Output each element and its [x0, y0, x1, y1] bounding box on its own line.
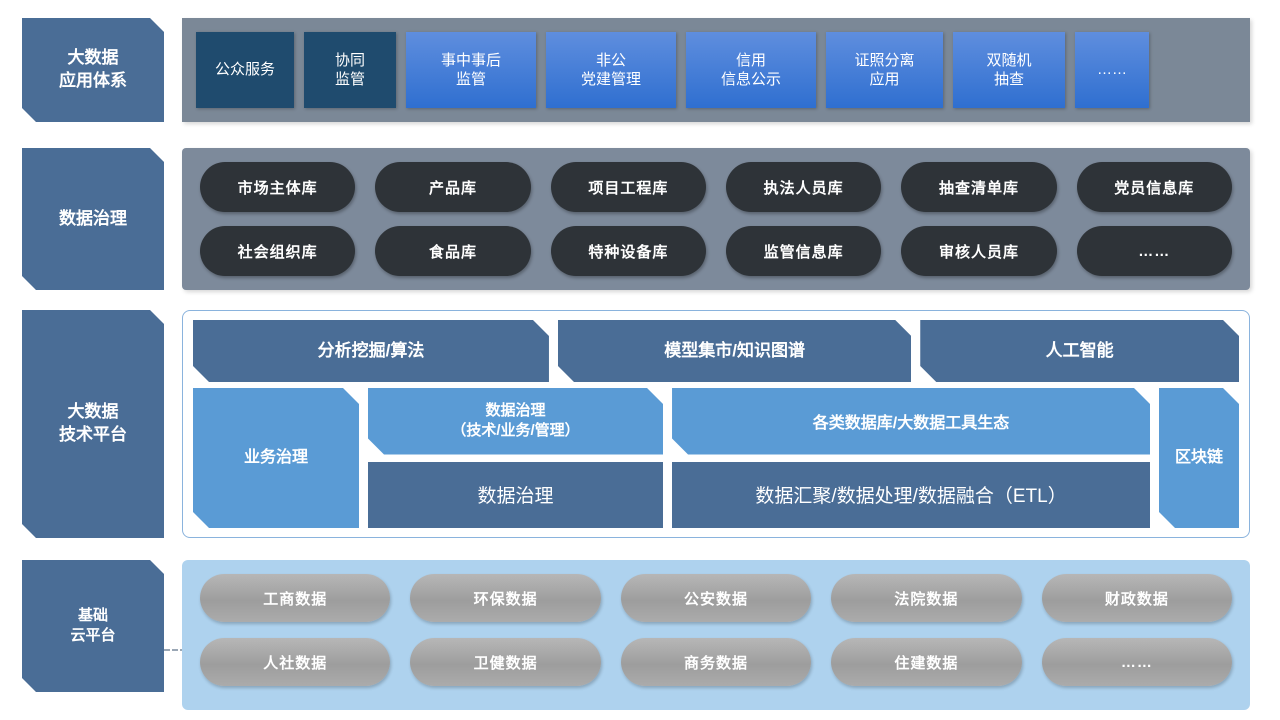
db-pill-reviewer-label: 审核人员库	[939, 241, 1019, 262]
layer-data-governance: 数据治理 市场主体库 产品库 项目工程库 执法人员库 抽查清单库 党员信息库 社…	[0, 140, 1280, 298]
db-pill-row-1: 市场主体库 产品库 项目工程库 执法人员库 抽查清单库 党员信息库	[200, 162, 1232, 212]
app-box-during-after-supervision-line1: 事中事后	[441, 51, 501, 71]
app-box-more-label: ……	[1097, 60, 1127, 80]
app-box-double-random-inspection-line2: 抽查	[986, 70, 1031, 90]
app-box-during-after-supervision[interactable]: 事中事后 监管	[406, 32, 536, 108]
db-pill-project-label: 项目工程库	[588, 177, 668, 198]
db-pill-enforcement[interactable]: 执法人员库	[726, 162, 881, 212]
db-pill-enforcement-label: 执法人员库	[764, 177, 844, 198]
layer-label-cloud-platform-line1: 基础	[70, 606, 115, 626]
app-box-collaborative-supervision[interactable]: 协同 监管	[304, 32, 396, 108]
tech-platform-container: 分析挖掘/算法 模型集市/知识图谱 人工智能 业务治理 数据治理 （技术/业务/…	[182, 310, 1250, 538]
layer-label-application-line1: 大数据	[59, 47, 127, 70]
app-box-party-building[interactable]: 非公 党建管理	[546, 32, 676, 108]
source-pill-business-label: 商务数据	[684, 652, 748, 673]
db-pill-more-label: ……	[1138, 243, 1170, 260]
source-pill-health[interactable]: 卫健数据	[410, 638, 600, 686]
layer-application-system: 大数据 应用体系 公众服务 协同 监管 事中事后 监管 非公 党建管理	[0, 0, 1280, 140]
tech-box-business-governance[interactable]: 业务治理	[193, 388, 359, 528]
source-pill-health-label: 卫健数据	[474, 652, 538, 673]
db-pill-product-label: 产品库	[429, 177, 477, 198]
source-pill-public-security[interactable]: 公安数据	[621, 574, 811, 622]
layer-label-tech-platform-line1: 大数据	[59, 401, 127, 424]
layer-label-tech-platform-line2: 技术平台	[59, 424, 127, 447]
source-pill-human-resources[interactable]: 人社数据	[200, 638, 390, 686]
tech-platform-right-column: 各类数据库/大数据工具生态 数据汇聚/数据处理/数据融合（ETL）	[672, 388, 1150, 528]
tech-box-analysis-mining[interactable]: 分析挖掘/算法	[193, 320, 549, 382]
source-pill-human-resources-label: 人社数据	[263, 652, 327, 673]
application-items-container: 公众服务 协同 监管 事中事后 监管 非公 党建管理 信用 信息公示	[182, 18, 1250, 122]
db-pill-supervision-info[interactable]: 监管信息库	[726, 226, 881, 276]
layer-label-tech-platform: 大数据 技术平台	[22, 310, 164, 538]
tech-box-data-governance-detail-line2: （技术/业务/管理）	[451, 421, 579, 441]
source-pill-housing[interactable]: 住建数据	[831, 638, 1021, 686]
app-box-collaborative-supervision-line2: 监管	[335, 70, 365, 90]
app-box-license-separation-line2: 应用	[854, 70, 914, 90]
app-box-during-after-supervision-line2: 监管	[441, 70, 501, 90]
tech-box-database-ecosystem[interactable]: 各类数据库/大数据工具生态	[672, 388, 1150, 455]
layer-label-application-line2: 应用体系	[59, 70, 127, 93]
app-box-credit-disclosure-line1: 信用	[721, 51, 781, 71]
layer-label-cloud-platform: 基础 云平台	[22, 560, 164, 692]
source-pill-housing-label: 住建数据	[894, 652, 958, 673]
tech-box-data-governance-label: 数据治理	[478, 481, 554, 508]
app-box-license-separation-line1: 证照分离	[854, 51, 914, 71]
db-pill-market-entity-label: 市场主体库	[238, 177, 318, 198]
tech-box-database-ecosystem-label: 各类数据库/大数据工具生态	[813, 409, 1009, 433]
source-pill-court-label: 法院数据	[894, 588, 958, 609]
app-box-double-random-inspection-line1: 双随机	[986, 51, 1031, 71]
db-pill-special-equip[interactable]: 特种设备库	[551, 226, 706, 276]
source-pill-environment-label: 环保数据	[474, 588, 538, 609]
tech-platform-bottom-row: 业务治理 数据治理 （技术/业务/管理） 数据治理 各类数据库/大数据工具生态	[193, 388, 1239, 528]
db-pill-inspection-list-label: 抽查清单库	[939, 177, 1019, 198]
db-pill-row-2: 社会组织库 食品库 特种设备库 监管信息库 审核人员库 ……	[200, 226, 1232, 276]
db-pill-social-org[interactable]: 社会组织库	[200, 226, 355, 276]
db-pill-inspection-list[interactable]: 抽查清单库	[901, 162, 1056, 212]
source-pill-court[interactable]: 法院数据	[831, 574, 1021, 622]
tech-box-analysis-mining-label: 分析挖掘/算法	[318, 340, 425, 362]
db-pill-project[interactable]: 项目工程库	[551, 162, 706, 212]
db-pill-food[interactable]: 食品库	[375, 226, 530, 276]
source-pill-row-2: 人社数据 卫健数据 商务数据 住建数据 ……	[200, 638, 1232, 686]
tech-platform-mid-column: 数据治理 （技术/业务/管理） 数据治理	[368, 388, 663, 528]
layer-label-cloud-platform-line2: 云平台	[70, 626, 115, 646]
tech-box-business-governance-label: 业务治理	[244, 448, 308, 469]
tech-box-data-governance-detail-line1: 数据治理	[451, 401, 579, 421]
db-pill-party-member-label: 党员信息库	[1114, 177, 1194, 198]
app-box-credit-disclosure[interactable]: 信用 信息公示	[686, 32, 816, 108]
db-pill-supervision-info-label: 监管信息库	[764, 241, 844, 262]
app-box-public-service[interactable]: 公众服务	[196, 32, 294, 108]
tech-box-data-governance-detail[interactable]: 数据治理 （技术/业务/管理）	[368, 388, 663, 455]
source-pill-finance-label: 财政数据	[1105, 588, 1169, 609]
layer-label-data-governance-text: 数据治理	[59, 208, 127, 231]
tech-box-etl-label: 数据汇聚/数据处理/数据融合（ETL）	[755, 481, 1066, 508]
app-box-credit-disclosure-line2: 信息公示	[721, 70, 781, 90]
app-box-party-building-line2: 党建管理	[581, 70, 641, 90]
source-pill-business[interactable]: 商务数据	[621, 638, 811, 686]
layer-label-application: 大数据 应用体系	[22, 18, 164, 122]
tech-box-model-market-label: 模型集市/知识图谱	[664, 340, 805, 362]
db-pill-more[interactable]: ……	[1077, 226, 1232, 276]
app-box-public-service-label: 公众服务	[215, 60, 275, 80]
cloud-platform-items-container: 工商数据 环保数据 公安数据 法院数据 财政数据 人社数据 卫健数据 商务数据 …	[182, 560, 1250, 710]
data-governance-items-container: 市场主体库 产品库 项目工程库 执法人员库 抽查清单库 党员信息库 社会组织库 …	[182, 148, 1250, 290]
source-pill-more-label: ……	[1121, 654, 1153, 671]
layer-cloud-platform: 基础 云平台 工商数据 环保数据 公安数据 法院数据 财政数据 人社数据 卫健数…	[0, 550, 1280, 720]
app-box-license-separation[interactable]: 证照分离 应用	[826, 32, 943, 108]
source-pill-public-security-label: 公安数据	[684, 588, 748, 609]
db-pill-social-org-label: 社会组织库	[238, 241, 318, 262]
db-pill-party-member[interactable]: 党员信息库	[1077, 162, 1232, 212]
source-pill-environment[interactable]: 环保数据	[410, 574, 600, 622]
layer-label-data-governance: 数据治理	[22, 148, 164, 290]
db-pill-reviewer[interactable]: 审核人员库	[901, 226, 1056, 276]
tech-box-artificial-intelligence-label: 人工智能	[1046, 340, 1114, 362]
db-pill-product[interactable]: 产品库	[375, 162, 530, 212]
source-pill-commerce-industry[interactable]: 工商数据	[200, 574, 390, 622]
tech-box-blockchain-label: 区块链	[1175, 448, 1223, 469]
tech-box-blockchain[interactable]: 区块链	[1159, 388, 1239, 528]
source-pill-more[interactable]: ……	[1042, 638, 1232, 686]
tech-box-etl[interactable]: 数据汇聚/数据处理/数据融合（ETL）	[672, 462, 1150, 529]
source-pill-finance[interactable]: 财政数据	[1042, 574, 1232, 622]
db-pill-food-label: 食品库	[429, 241, 477, 262]
db-pill-market-entity[interactable]: 市场主体库	[200, 162, 355, 212]
tech-platform-top-row: 分析挖掘/算法 模型集市/知识图谱 人工智能	[193, 320, 1239, 382]
tech-box-artificial-intelligence[interactable]: 人工智能	[920, 320, 1239, 382]
tech-box-data-governance[interactable]: 数据治理	[368, 462, 663, 529]
source-pill-row-1: 工商数据 环保数据 公安数据 法院数据 财政数据	[200, 574, 1232, 622]
app-box-collaborative-supervision-line1: 协同	[335, 51, 365, 71]
app-box-more[interactable]: ……	[1075, 32, 1149, 108]
app-box-double-random-inspection[interactable]: 双随机 抽查	[953, 32, 1065, 108]
source-pill-commerce-industry-label: 工商数据	[263, 588, 327, 609]
db-pill-special-equip-label: 特种设备库	[588, 241, 668, 262]
app-box-party-building-line1: 非公	[581, 51, 641, 71]
tech-box-model-market[interactable]: 模型集市/知识图谱	[558, 320, 911, 382]
layer-tech-platform: 大数据 技术平台 分析挖掘/算法 模型集市/知识图谱 人工智能 业务治理	[0, 298, 1280, 550]
